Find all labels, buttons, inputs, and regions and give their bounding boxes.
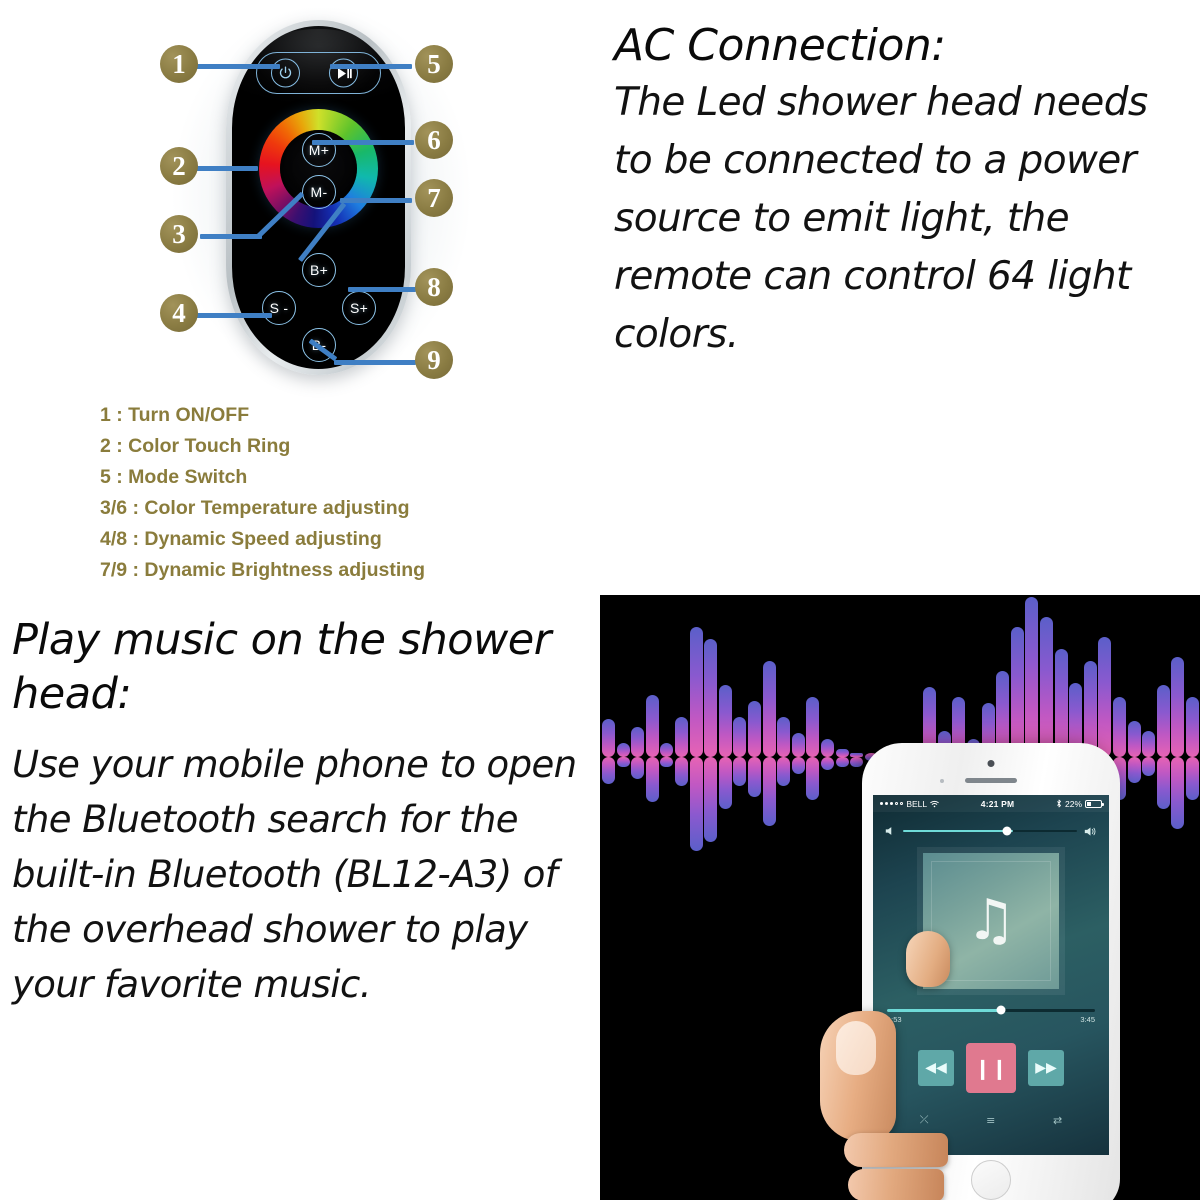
legend-item: 4/8 : Dynamic Speed adjusting	[100, 524, 570, 555]
equalizer-bar	[1142, 757, 1155, 776]
callout-number: 2	[172, 151, 186, 181]
proximity-sensor-icon	[940, 779, 944, 783]
brightness-plus-button[interactable]: B+	[302, 253, 336, 287]
speed-minus-button[interactable]: S -	[262, 291, 296, 325]
seek-knob[interactable]	[997, 1006, 1006, 1015]
remote-diagram-panel: M+ M- B+ S - S+ B- 1 2 3 4 5 6 7 8 9 1 :…	[0, 0, 600, 595]
callout-badge-4: 4	[160, 294, 198, 332]
volume-slider[interactable]	[885, 823, 1097, 839]
equalizer-bar	[1157, 757, 1170, 809]
equalizer-bar	[704, 639, 717, 757]
power-button[interactable]	[271, 59, 300, 88]
mode-minus-button[interactable]: M-	[302, 175, 336, 209]
volume-track[interactable]	[903, 830, 1077, 833]
phone-screen: BELL 4:21 PM 22%	[873, 795, 1109, 1155]
volume-knob[interactable]	[1003, 827, 1012, 836]
legend-item: 3/6 : Color Temperature adjusting	[100, 493, 570, 524]
leader-line-3a	[200, 234, 262, 239]
status-bar-left: BELL	[880, 799, 939, 809]
legend-list: 1 : Turn ON/OFF 2 : Color Touch Ring 5 :…	[100, 400, 570, 586]
equalizer-bar	[690, 627, 703, 757]
callout-badge-8: 8	[415, 268, 453, 306]
power-icon	[278, 66, 293, 81]
top-button-capsule	[256, 52, 381, 94]
equalizer-bar	[1186, 757, 1199, 800]
callout-badge-9: 9	[415, 341, 453, 379]
equalizer-bar	[792, 757, 805, 774]
equalizer-bar	[792, 733, 805, 757]
button-label: S -	[270, 300, 289, 316]
transport-controls: ◀◀ ❙❙ ▶▶	[873, 1043, 1109, 1093]
bluetooth-icon	[1056, 799, 1062, 808]
equalizer-bar	[836, 749, 849, 757]
button-label: B+	[310, 262, 328, 278]
mode-plus-button[interactable]: M+	[302, 133, 336, 167]
playlist-icon[interactable]: ≡	[986, 1114, 995, 1127]
callout-badge-5: 5	[415, 45, 453, 83]
equalizer-bar	[1171, 657, 1184, 757]
signal-strength-icon	[880, 802, 903, 805]
ac-connection-heading: AC Connection:	[614, 18, 1194, 74]
clock-label: 4:21 PM	[939, 799, 1056, 809]
equalizer-bar	[1098, 637, 1111, 757]
play-music-panel: Play music on the shower head: Use your …	[0, 595, 600, 1200]
equalizer-bar	[631, 757, 644, 779]
wifi-icon	[930, 800, 939, 808]
speed-plus-button[interactable]: S+	[342, 291, 376, 325]
equalizer-bar	[690, 757, 703, 851]
seek-fill	[887, 1009, 1001, 1012]
callout-number: 1	[172, 49, 186, 79]
leader-line-7a	[340, 198, 412, 203]
play-music-heading: Play music on the shower head:	[12, 613, 596, 721]
callout-badge-1: 1	[160, 45, 198, 83]
callout-badge-6: 6	[415, 121, 453, 159]
equalizer-bar	[1171, 757, 1184, 829]
equalizer-bar	[646, 757, 659, 802]
equalizer-bar	[1040, 617, 1053, 757]
equalizer-bar	[631, 727, 644, 757]
volume-high-icon	[1084, 826, 1097, 837]
forward-icon: ▶▶	[1035, 1060, 1057, 1076]
front-camera-icon	[988, 760, 995, 767]
callout-badge-3: 3	[160, 215, 198, 253]
callout-number: 5	[427, 49, 441, 79]
equalizer-bar	[733, 717, 746, 757]
equalizer-bar	[1157, 685, 1170, 757]
equalizer-bar	[777, 757, 790, 786]
secondary-controls: ⤫ ≡ ⇄	[873, 1113, 1109, 1127]
leader-line-4	[196, 313, 272, 318]
color-touch-ring[interactable]	[259, 109, 378, 228]
leader-line-8	[348, 287, 416, 292]
leader-line-2	[196, 166, 258, 171]
album-art: ♫	[923, 853, 1059, 989]
pause-button[interactable]: ❙❙	[966, 1043, 1016, 1093]
ac-connection-panel: AC Connection: The Led shower head needs…	[600, 0, 1200, 595]
play-pause-button[interactable]	[329, 59, 358, 88]
seek-track[interactable]	[887, 1009, 1095, 1012]
music-photo-panel: BELL 4:21 PM 22%	[600, 595, 1200, 1200]
equalizer-bar	[660, 757, 673, 767]
callout-number: 6	[427, 125, 441, 155]
equalizer-bar	[1128, 757, 1141, 783]
equalizer-bar	[836, 757, 849, 767]
rewind-button[interactable]: ◀◀	[918, 1050, 954, 1086]
earpiece-speaker	[965, 778, 1017, 783]
rewind-icon: ◀◀	[925, 1060, 947, 1076]
play-music-body: Use your mobile phone to open the Blueto…	[12, 737, 596, 1012]
equalizer-bar	[704, 757, 717, 842]
equalizer-bar	[719, 757, 732, 809]
infographic-page: M+ M- B+ S - S+ B- 1 2 3 4 5 6 7 8 9 1 :…	[0, 0, 1200, 1200]
callout-number: 7	[427, 183, 441, 213]
ac-connection-body: The Led shower head needs to be connecte…	[614, 74, 1194, 364]
equalizer-bar	[602, 757, 615, 784]
status-bar: BELL 4:21 PM 22%	[873, 795, 1109, 812]
forward-button[interactable]: ▶▶	[1028, 1050, 1064, 1086]
legend-item: 5 : Mode Switch	[100, 462, 570, 493]
equalizer-bar	[733, 757, 746, 786]
equalizer-bar	[1025, 597, 1038, 757]
equalizer-bar	[821, 757, 834, 770]
equalizer-bar	[850, 757, 863, 767]
repeat-icon[interactable]: ⇄	[1053, 1114, 1062, 1127]
equalizer-bar	[763, 661, 776, 757]
callout-badge-7: 7	[415, 179, 453, 217]
legend-item: 2 : Color Touch Ring	[100, 431, 570, 462]
legend-item: 1 : Turn ON/OFF	[100, 400, 570, 431]
equalizer-bar	[1011, 627, 1024, 757]
equalizer-bar	[748, 701, 761, 757]
status-bar-right: 22%	[1056, 799, 1102, 809]
equalizer-bar	[675, 757, 688, 786]
smartphone: BELL 4:21 PM 22%	[862, 743, 1120, 1200]
spacer	[12, 721, 596, 737]
home-button[interactable]	[971, 1160, 1011, 1200]
equalizer-bar	[748, 757, 761, 797]
equalizer-bar	[1055, 649, 1068, 757]
equalizer-bar	[763, 757, 776, 826]
equalizer-bar	[602, 719, 615, 757]
callout-number: 9	[427, 345, 441, 375]
seek-time-labels: 1:53 3:45	[887, 1015, 1095, 1024]
equalizer-bar	[1128, 721, 1141, 757]
equalizer-bar	[1113, 697, 1126, 757]
equalizer-bar	[617, 757, 630, 767]
battery-percent-label: 22%	[1065, 799, 1082, 809]
button-label: S+	[350, 300, 368, 316]
equalizer-bar	[806, 697, 819, 757]
pause-icon: ❙❙	[974, 1056, 1008, 1080]
equalizer-bar	[660, 743, 673, 757]
equalizer-bar	[719, 685, 732, 757]
volume-low-icon	[885, 826, 896, 836]
leader-line-6	[312, 140, 414, 145]
elapsed-time-label: 1:53	[887, 1015, 902, 1024]
button-label: M-	[311, 184, 328, 200]
leader-line-9a	[334, 360, 416, 365]
leader-line-5	[330, 64, 412, 69]
equalizer-bar	[675, 717, 688, 757]
equalizer-bar	[821, 739, 834, 757]
legend-item: 7/9 : Dynamic Brightness adjusting	[100, 555, 570, 586]
equalizer-bar	[777, 717, 790, 757]
callout-number: 4	[172, 298, 186, 328]
album-art-border	[931, 861, 1051, 981]
equalizer-bar	[1186, 697, 1199, 757]
battery-icon	[1085, 800, 1102, 808]
volume-fill	[903, 830, 1013, 833]
carrier-label: BELL	[906, 799, 927, 809]
equalizer-bar	[617, 743, 630, 757]
equalizer-bar	[646, 695, 659, 757]
callout-number: 3	[172, 219, 186, 249]
equalizer-bar	[1142, 731, 1155, 757]
callout-number: 8	[427, 272, 441, 302]
total-time-label: 3:45	[1080, 1015, 1095, 1024]
callout-badge-2: 2	[160, 147, 198, 185]
leader-line-1	[196, 64, 280, 69]
equalizer-bar	[806, 757, 819, 800]
shuffle-icon[interactable]: ⤫	[920, 1113, 929, 1127]
playback-progress[interactable]: 1:53 3:45	[887, 1009, 1095, 1024]
